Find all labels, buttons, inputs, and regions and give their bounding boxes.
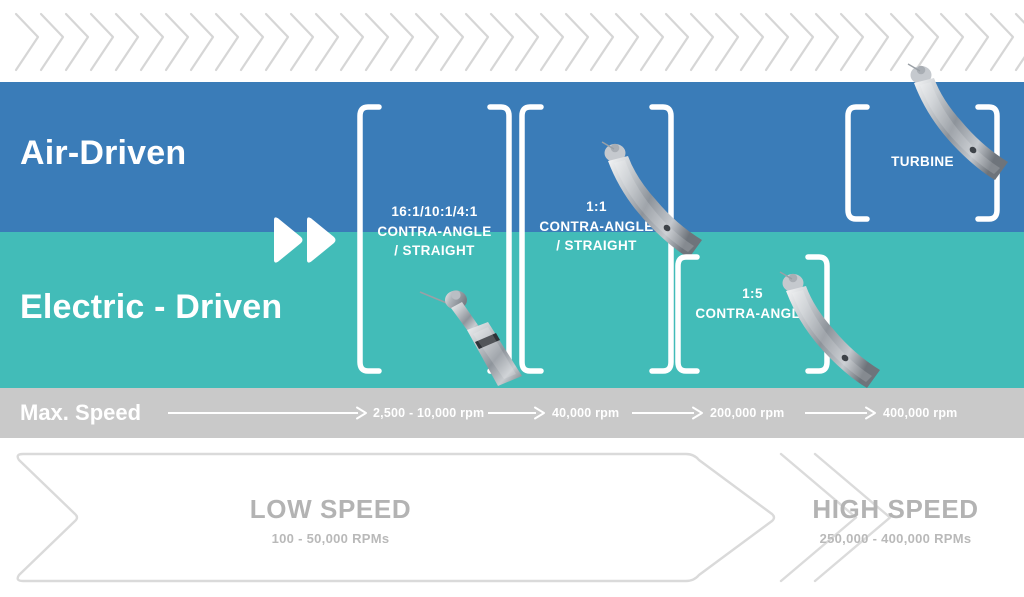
group-line2: CONTRA-ANGLE bbox=[675, 304, 830, 324]
group-label-text: TURBINE bbox=[845, 152, 1000, 172]
double-play-arrow-icon bbox=[270, 215, 340, 270]
group-label-text: 1:5 CONTRA-ANGLE bbox=[675, 284, 830, 323]
group-label-text: 1:1 CONTRA-ANGLE / STRAIGHT bbox=[519, 197, 674, 256]
high-speed-range: 250,000 - 400,000 RPMs bbox=[748, 531, 1024, 546]
high-speed-block: HIGH SPEED 250,000 - 400,000 RPMs bbox=[748, 494, 1024, 546]
infographic-canvas: Air-Driven Electric - Driven 16:1/10:1/4… bbox=[0, 0, 1024, 597]
chevron-row bbox=[16, 14, 1024, 70]
speed-value-3: 400,000 rpm bbox=[883, 388, 957, 438]
group-ratio: 1:1 bbox=[519, 197, 674, 217]
speed-value-text: 200,000 rpm bbox=[710, 406, 784, 420]
speed-value-0: 2,500 - 10,000 rpm bbox=[373, 388, 484, 438]
group-ratio: TURBINE bbox=[845, 152, 1000, 172]
electric-driven-title: Electric - Driven bbox=[20, 288, 282, 327]
group-line2: CONTRA-ANGLE bbox=[357, 222, 512, 242]
speed-arrow-3 bbox=[805, 388, 877, 438]
high-speed-title: HIGH SPEED bbox=[748, 494, 1024, 525]
group-line2: CONTRA-ANGLE bbox=[519, 217, 674, 237]
max-speed-label: Max. Speed bbox=[20, 400, 141, 426]
speed-value-text: 400,000 rpm bbox=[883, 406, 957, 420]
group-ratio: 1:5 bbox=[675, 284, 830, 304]
group-contra-angle-straight-low: 16:1/10:1/4:1 CONTRA-ANGLE / STRAIGHT bbox=[357, 104, 512, 374]
group-line3: / STRAIGHT bbox=[519, 236, 674, 256]
speed-arrow-1 bbox=[488, 388, 546, 438]
speed-value-text: 2,500 - 10,000 rpm bbox=[373, 406, 484, 420]
group-line3: / STRAIGHT bbox=[357, 241, 512, 261]
group-contra-angle-straight-1-1: 1:1 CONTRA-ANGLE / STRAIGHT bbox=[519, 104, 674, 374]
speed-value-2: 200,000 rpm bbox=[710, 388, 784, 438]
low-speed-range: 100 - 50,000 RPMs bbox=[183, 531, 478, 546]
group-contra-angle-1-5: 1:5 CONTRA-ANGLE bbox=[675, 254, 830, 374]
chevron-pattern-band bbox=[0, 0, 1024, 82]
max-speed-track: 2,500 - 10,000 rpm 40,000 rpm 200,000 rp… bbox=[168, 388, 1024, 438]
low-speed-block: LOW SPEED 100 - 50,000 RPMs bbox=[183, 494, 478, 546]
low-speed-title: LOW SPEED bbox=[183, 494, 478, 525]
group-label-text: 16:1/10:1/4:1 CONTRA-ANGLE / STRAIGHT bbox=[357, 202, 512, 261]
group-turbine: TURBINE bbox=[845, 104, 1000, 222]
air-driven-title: Air-Driven bbox=[20, 134, 186, 173]
group-ratio: 16:1/10:1/4:1 bbox=[357, 202, 512, 222]
speed-value-1: 40,000 rpm bbox=[552, 388, 619, 438]
speed-arrow-2 bbox=[632, 388, 704, 438]
speed-value-text: 40,000 rpm bbox=[552, 406, 619, 420]
speed-arrow-0 bbox=[168, 388, 368, 438]
speed-range-banner: LOW SPEED 100 - 50,000 RPMs HIGH SPEED 2… bbox=[0, 438, 1024, 597]
